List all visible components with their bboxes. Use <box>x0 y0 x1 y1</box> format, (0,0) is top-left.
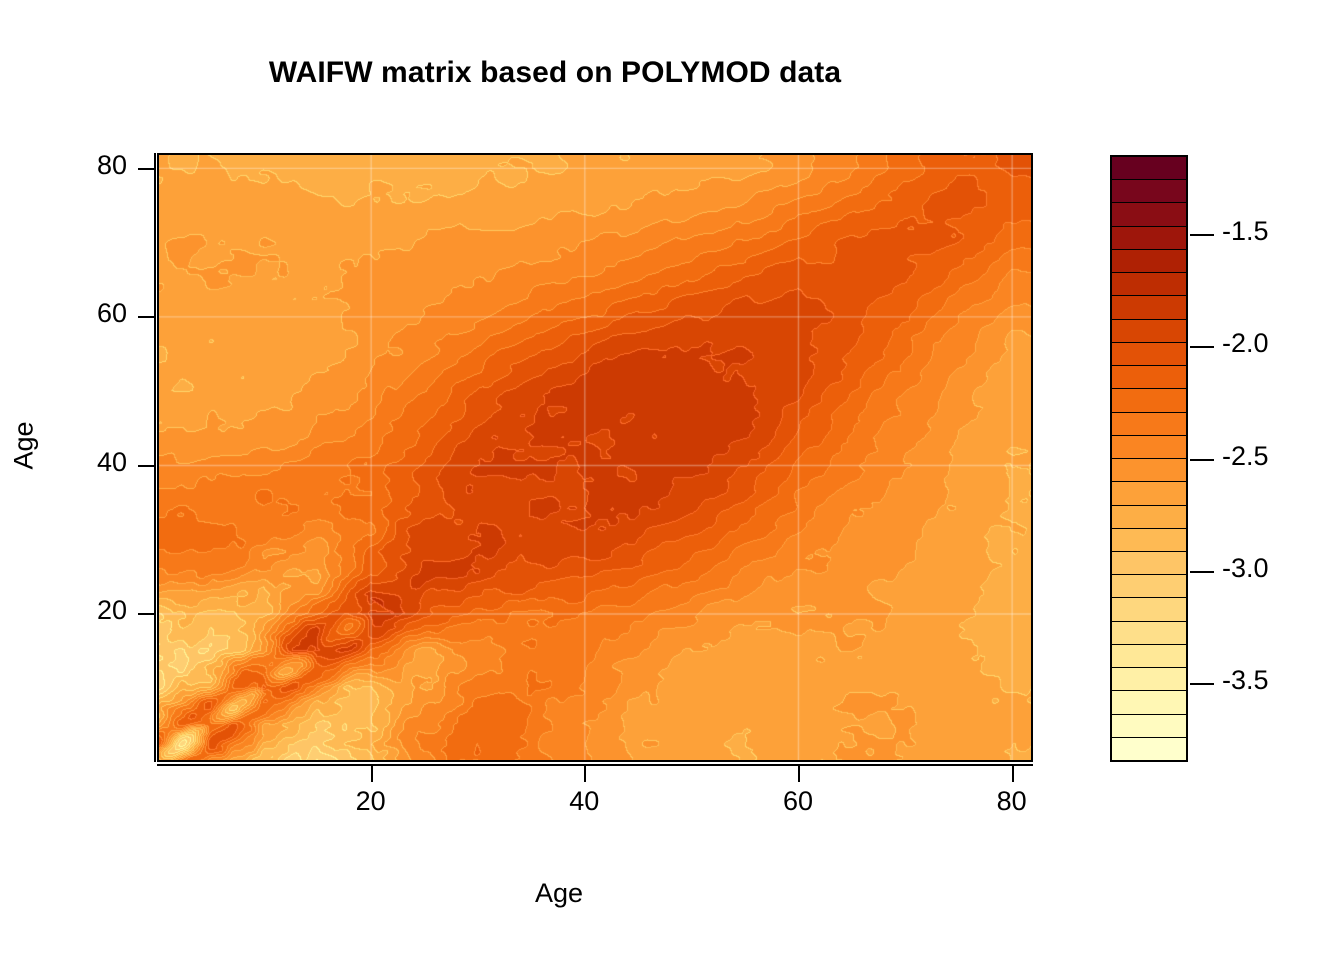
y-tick-40 <box>138 465 154 467</box>
legend-band <box>1112 320 1186 343</box>
x-tick-label-40: 40 <box>544 786 624 817</box>
y-tick-label-60: 60 <box>47 298 127 329</box>
color-legend-bands <box>1112 157 1186 760</box>
legend-tick <box>1190 571 1214 573</box>
legend-tick-label: -3.0 <box>1222 553 1269 584</box>
legend-band <box>1112 598 1186 621</box>
y-tick-60 <box>138 316 154 318</box>
y-tick-80 <box>138 168 154 170</box>
legend-band <box>1112 506 1186 529</box>
legend-band <box>1112 203 1186 226</box>
legend-tick-label: -3.5 <box>1222 665 1269 696</box>
legend-band <box>1112 715 1186 738</box>
x-axis-label: Age <box>535 878 583 909</box>
legend-band <box>1112 622 1186 645</box>
legend-band <box>1112 296 1186 319</box>
x-tick-40 <box>584 766 586 782</box>
y-axis-label: Age <box>9 386 40 506</box>
y-tick-20 <box>138 613 154 615</box>
color-legend[interactable] <box>1110 155 1188 762</box>
legend-band <box>1112 389 1186 412</box>
x-tick-20 <box>371 766 373 782</box>
contour-heatmap <box>157 153 1033 762</box>
legend-band <box>1112 459 1186 482</box>
legend-band <box>1112 180 1186 203</box>
legend-band <box>1112 691 1186 714</box>
legend-band <box>1112 436 1186 459</box>
legend-tick-label: -2.0 <box>1222 328 1269 359</box>
legend-tick <box>1190 459 1214 461</box>
x-axis-line <box>157 764 1033 766</box>
legend-band <box>1112 738 1186 760</box>
legend-band <box>1112 668 1186 691</box>
x-tick-label-20: 20 <box>331 786 411 817</box>
legend-band <box>1112 645 1186 668</box>
legend-band <box>1112 529 1186 552</box>
y-tick-label-20: 20 <box>47 595 127 626</box>
x-tick-label-80: 80 <box>972 786 1052 817</box>
legend-band <box>1112 273 1186 296</box>
page-title: WAIFW matrix based on POLYMOD data <box>0 56 1110 90</box>
legend-tick <box>1190 683 1214 685</box>
y-tick-label-40: 40 <box>47 447 127 478</box>
legend-tick-label: -2.5 <box>1222 441 1269 472</box>
y-axis-line <box>154 153 156 762</box>
legend-band <box>1112 552 1186 575</box>
legend-band <box>1112 413 1186 436</box>
legend-tick-label: -1.5 <box>1222 216 1269 247</box>
legend-tick <box>1190 346 1214 348</box>
legend-band <box>1112 227 1186 250</box>
x-tick-label-60: 60 <box>758 786 838 817</box>
figure-canvas: WAIFW matrix based on POLYMOD data 20406… <box>0 0 1344 960</box>
legend-band <box>1112 482 1186 505</box>
legend-band <box>1112 157 1186 180</box>
legend-band <box>1112 366 1186 389</box>
legend-band <box>1112 343 1186 366</box>
y-tick-label-80: 80 <box>47 150 127 181</box>
legend-tick <box>1190 234 1214 236</box>
x-tick-80 <box>1012 766 1014 782</box>
legend-band <box>1112 575 1186 598</box>
legend-band <box>1112 250 1186 273</box>
x-tick-60 <box>798 766 800 782</box>
heatmap-panel[interactable] <box>157 153 1033 762</box>
